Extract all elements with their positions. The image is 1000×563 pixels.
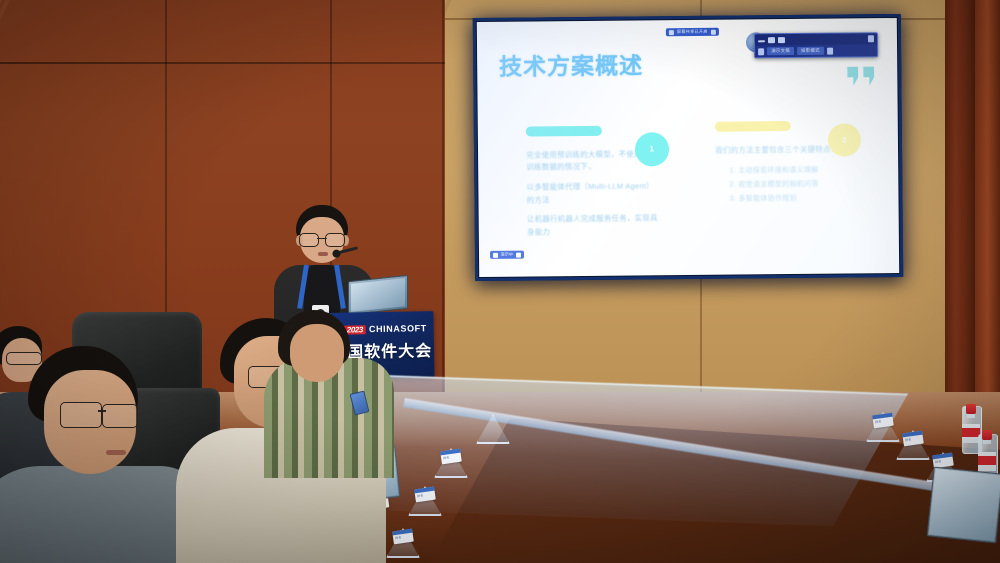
bottle-cap (966, 404, 976, 414)
name-card: 姓名 (414, 487, 436, 503)
attendee-mouth (106, 450, 126, 455)
bottle-label (978, 452, 996, 471)
name-card-holder (476, 414, 510, 444)
conference-room-scene: 技术方案概述 完全使用预训练的大模型，不使用任何训练数据的情况下， 以多智能体代… (0, 0, 1000, 563)
presenter-mouth (318, 252, 328, 256)
attendee-glasses-lens (60, 402, 102, 428)
name-card-holder: 姓名 (866, 412, 900, 442)
name-card-holder: 姓名 (386, 528, 420, 558)
name-card-text: 姓名 (905, 436, 921, 443)
laptop-screen (929, 469, 1000, 542)
attendee-laptop[interactable] (927, 467, 1000, 544)
glasses-lens (299, 233, 319, 247)
name-card: 姓名 (902, 431, 924, 447)
presentation-display[interactable]: 技术方案概述 完全使用预训练的大模型，不使用任何训练数据的情况下， 以多智能体代… (473, 14, 904, 281)
glasses-lens (325, 233, 345, 247)
attendee-front-left (10, 346, 190, 563)
attendee-glasses-bridge (98, 410, 106, 412)
name-card-holder: 姓名 (896, 430, 930, 460)
attendee-head (290, 324, 344, 382)
name-card-text: 姓名 (443, 454, 459, 461)
name-card-holder: 姓名 (408, 486, 442, 516)
name-card-text: 姓名 (417, 492, 433, 499)
attendee-glasses-lens (102, 404, 138, 428)
name-card-text: 姓名 (395, 534, 411, 541)
attendee-plaid (264, 310, 384, 480)
name-card-text: 姓名 (935, 458, 951, 465)
name-card: 姓名 (440, 449, 462, 465)
name-card-text: 姓名 (875, 418, 891, 425)
card-holder-frame (476, 414, 510, 444)
presenter-laptop[interactable] (348, 278, 408, 312)
name-card: 姓名 (872, 413, 894, 429)
name-card: 姓名 (392, 529, 414, 545)
bottle-cap (982, 430, 992, 440)
name-card-holder: 姓名 (434, 448, 468, 478)
display-bezel (473, 14, 904, 281)
presenter-glasses (298, 233, 346, 245)
